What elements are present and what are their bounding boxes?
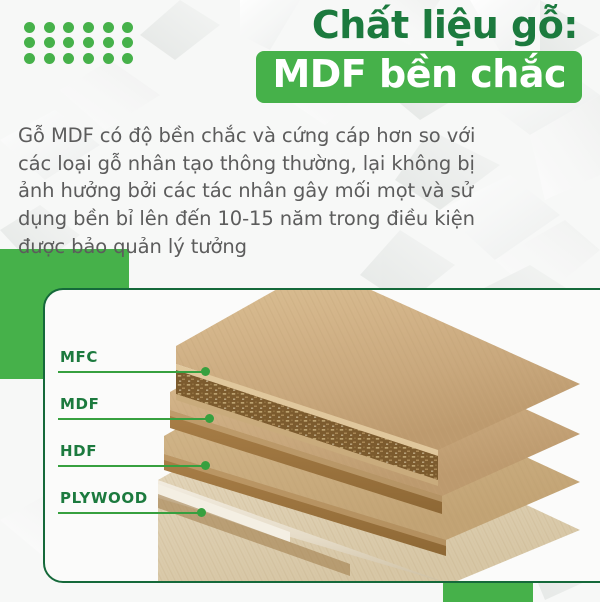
grid-dot <box>63 37 74 48</box>
grid-dot <box>122 53 133 64</box>
grid-dot <box>122 37 133 48</box>
grid-dot <box>44 22 55 33</box>
leader-line-mfc <box>90 371 208 373</box>
leader-line-mdf <box>90 418 212 420</box>
dot-grid-decoration <box>24 22 142 68</box>
grid-dot <box>63 53 74 64</box>
grid-dot <box>24 22 35 33</box>
leader-dot-mfc <box>201 367 210 376</box>
leader-dot-hdf <box>201 461 210 470</box>
wood-layers-card <box>43 288 600 583</box>
leader-line-hdf <box>90 465 208 467</box>
headline-badge: MDF bền chắc <box>256 51 582 103</box>
callout-label: HDF <box>58 444 120 459</box>
grid-dot <box>122 22 133 33</box>
grid-dot <box>103 53 114 64</box>
grid-dot <box>24 53 35 64</box>
grid-dot <box>83 22 94 33</box>
leader-line-plywood <box>90 512 200 514</box>
callout-label: MDF <box>58 397 120 412</box>
callout-label: PLYWOOD <box>58 491 146 506</box>
grid-dot <box>24 37 35 48</box>
page-title: Chất liệu gỗ: <box>222 6 582 46</box>
callout-plywood: PLYWOOD <box>58 491 146 514</box>
wood-board-stack-illustration <box>150 288 580 583</box>
grid-dot <box>44 37 55 48</box>
grid-dot <box>83 37 94 48</box>
grid-dot <box>103 37 114 48</box>
header-title-block: Chất liệu gỗ: MDF bền chắc <box>222 6 582 103</box>
callout-hdf: HDF <box>58 444 120 467</box>
grid-dot <box>83 53 94 64</box>
body-paragraph: Gỗ MDF có độ bền chắc và cứng cáp hơn so… <box>18 122 488 260</box>
leader-dot-plywood <box>197 508 206 517</box>
callout-label: MFC <box>58 350 120 365</box>
callout-mfc: MFC <box>58 350 120 373</box>
leader-dot-mdf <box>205 414 214 423</box>
grid-dot <box>103 22 114 33</box>
grid-dot <box>63 22 74 33</box>
grid-dot <box>44 53 55 64</box>
callout-mdf: MDF <box>58 397 120 420</box>
